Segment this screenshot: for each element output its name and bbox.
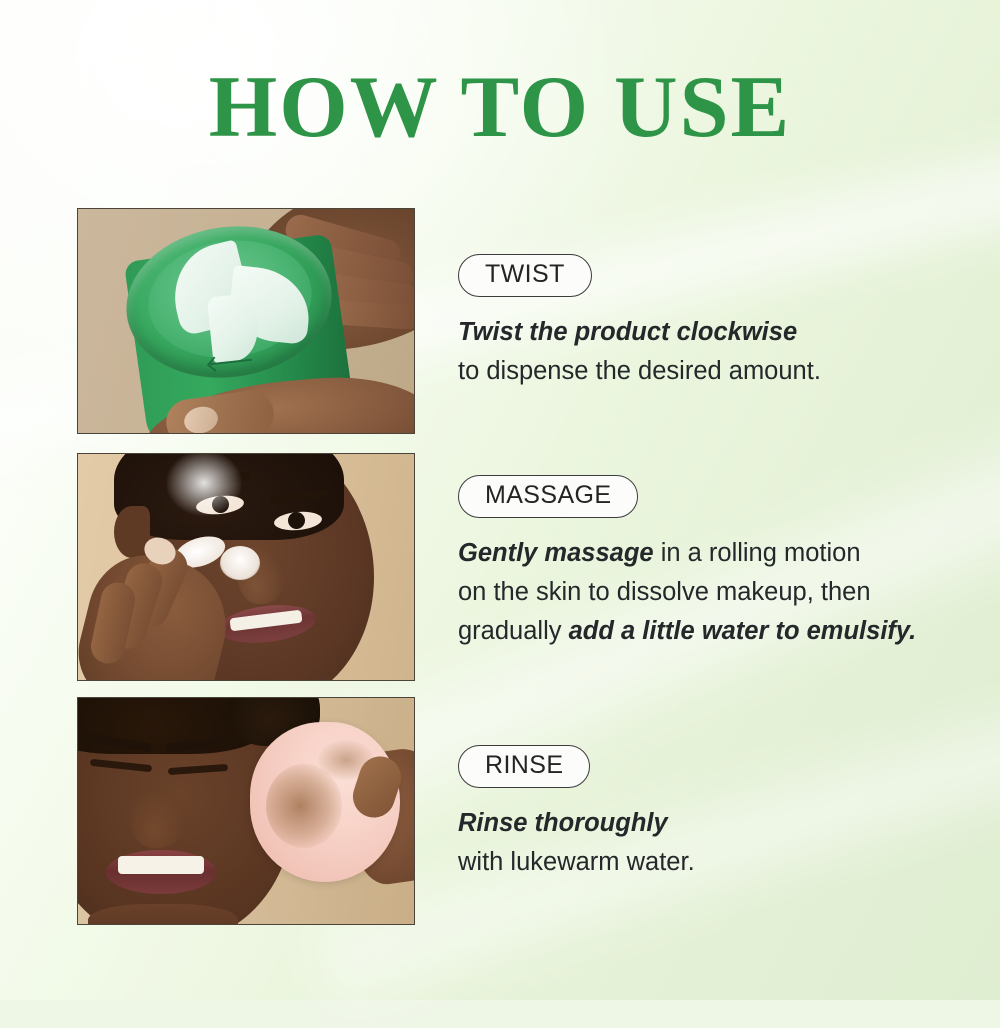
description-run: in a rolling motion	[654, 539, 861, 567]
description-run: Gently massage	[458, 539, 654, 567]
description-line: on the skin to dissolve makeup, then	[458, 573, 916, 612]
description-line: Twist the product clockwise	[458, 313, 821, 352]
description-line: to dispense the desired amount.	[458, 352, 821, 391]
step-image-rinse	[77, 697, 415, 925]
description-run: gradually	[458, 617, 569, 645]
step-text-block: TWIST Twist the product clockwiseto disp…	[458, 254, 821, 391]
description-run: with lukewarm water.	[458, 848, 695, 876]
description-line: Gently massage in a rolling motion	[458, 534, 916, 573]
pupil	[288, 512, 305, 529]
step-text-block: RINSE Rinse thoroughlywith lukewarm wate…	[458, 745, 695, 882]
page-title: HOW TO USE	[0, 64, 1000, 152]
description-run: on the skin to dissolve makeup, then	[458, 578, 871, 606]
step-badge-rinse: RINSE	[458, 745, 590, 788]
description-line: Rinse thoroughly	[458, 804, 695, 843]
step-description-massage: Gently massage in a rolling motionon the…	[458, 534, 916, 650]
nose	[130, 790, 184, 848]
neck	[88, 904, 238, 925]
description-line: with lukewarm water.	[458, 843, 695, 882]
step-badge-twist: TWIST	[458, 254, 592, 297]
cream-highlight	[166, 453, 242, 516]
cream-smear	[220, 546, 260, 580]
description-run: to dispense the desired amount.	[458, 357, 821, 385]
description-line: gradually add a little water to emulsify…	[458, 612, 916, 651]
step-description-twist: Twist the product clockwiseto dispense t…	[458, 313, 821, 391]
step-image-twist	[77, 208, 415, 434]
step-image-massage	[77, 453, 415, 681]
step-badge-massage: MASSAGE	[458, 475, 638, 518]
teeth	[118, 856, 204, 874]
description-run: Rinse thoroughly	[458, 809, 668, 837]
step-text-block: MASSAGE Gently massage in a rolling moti…	[458, 475, 916, 650]
description-run: add a little water to emulsify.	[569, 617, 917, 645]
step-description-rinse: Rinse thoroughlywith lukewarm water.	[458, 804, 695, 882]
description-run: Twist the product clockwise	[458, 318, 797, 346]
